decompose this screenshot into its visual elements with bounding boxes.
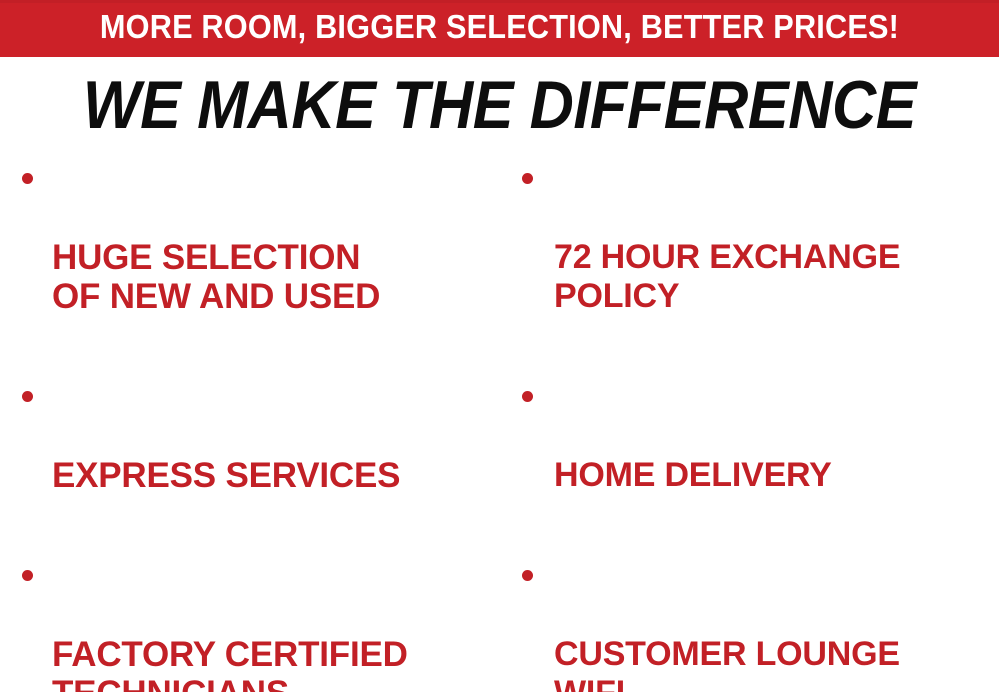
feature-column-left: HUGE SELECTION OF NEW AND USED EXPRESS S…	[8, 160, 500, 692]
banner-headline-text: MORE ROOM, BIGGER SELECTION, BETTER PRIC…	[35, 0, 964, 54]
list-item-label: FACTORY CERTIFIED TECHNICIANS	[52, 635, 500, 692]
bullet-dot-icon	[522, 570, 533, 581]
list-item-label: HUGE SELECTION OF NEW AND USED	[52, 238, 500, 316]
bullet-dot-icon	[522, 391, 533, 402]
list-item: 72 HOUR EXCHANGE POLICY	[508, 160, 999, 355]
list-item-label: CUSTOMER LOUNGE WIFI	[554, 635, 999, 692]
list-item: HUGE SELECTION OF NEW AND USED	[8, 160, 500, 355]
list-item: HOME DELIVERY	[508, 378, 999, 534]
feature-columns: HUGE SELECTION OF NEW AND USED EXPRESS S…	[0, 160, 999, 692]
bullet-dot-icon	[22, 570, 33, 581]
promo-poster: MORE ROOM, BIGGER SELECTION, BETTER PRIC…	[0, 0, 999, 692]
list-item-label: 72 HOUR EXCHANGE POLICY	[554, 238, 999, 316]
list-item-label: HOME DELIVERY	[554, 456, 999, 495]
list-item: CUSTOMER LOUNGE WIFI	[508, 557, 999, 692]
top-banner: MORE ROOM, BIGGER SELECTION, BETTER PRIC…	[0, 0, 999, 57]
list-item-label: EXPRESS SERVICES	[52, 456, 500, 495]
list-item: EXPRESS SERVICES	[8, 378, 500, 534]
bullet-dot-icon	[22, 173, 33, 184]
list-item: FACTORY CERTIFIED TECHNICIANS	[8, 557, 500, 692]
bullet-dot-icon	[22, 391, 33, 402]
bullet-dot-icon	[522, 173, 533, 184]
page-title: WE MAKE THE DIFFERENCE	[50, 66, 949, 144]
feature-column-right: 72 HOUR EXCHANGE POLICY HOME DELIVERY CU…	[508, 160, 999, 692]
